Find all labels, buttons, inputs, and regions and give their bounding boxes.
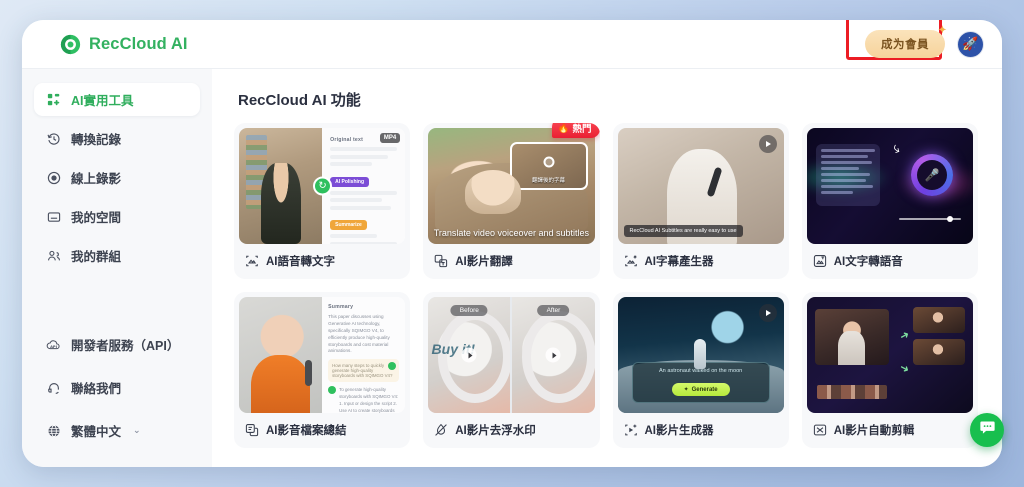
card-remove-watermark[interactable]: Before Buy it! After	[423, 292, 599, 448]
text-bar	[330, 191, 397, 195]
text-line	[821, 191, 853, 194]
chevron-down-icon: ⌄	[133, 425, 141, 436]
sidebar-item-developer-api[interactable]: API 開發者服務（API）	[34, 328, 200, 361]
folder-icon	[46, 209, 61, 224]
card-label: AI影片去浮水印	[423, 413, 599, 448]
play-icon[interactable]	[759, 135, 777, 153]
user-avatar-dot	[388, 362, 396, 370]
card-title: AI影片去浮水印	[455, 422, 536, 438]
become-member-button[interactable]: ✦ 成为會員	[865, 30, 945, 58]
card-title: AI影片生成器	[645, 422, 714, 438]
text-line	[821, 167, 859, 170]
video-generator-icon	[624, 423, 638, 437]
microphone-prop	[305, 360, 312, 386]
chat-bubble-icon	[979, 419, 996, 441]
ai-avatar-dot	[328, 386, 336, 394]
card-label: AI影音檔案總結	[234, 413, 410, 448]
sidebar: AI實用工具 轉換記錄	[22, 69, 212, 467]
card-label: AI影片自動剪輯	[802, 413, 978, 448]
card-media-summary[interactable]: Summary This paper discusses using Gener…	[234, 292, 410, 448]
prompt-text: An astronaut walked on the moon	[639, 368, 763, 374]
feature-card-grid: Original text AI Polishing Summarize ↻	[234, 123, 978, 448]
sidebar-item-my-space[interactable]: 我的空間	[34, 200, 200, 233]
sidebar-label: 我的群組	[71, 246, 121, 265]
cloud-api-icon: API	[46, 337, 61, 352]
sidebar-item-contact-us[interactable]: 聯絡我們	[34, 371, 200, 404]
ai-polishing-chip: AI Polishing	[330, 177, 369, 187]
text-line	[821, 155, 869, 158]
text-bar	[330, 206, 390, 210]
inner-subtitle: 翻譯後的字幕	[512, 176, 586, 184]
text-line	[821, 185, 873, 188]
card-thumbnail: Original text AI Polishing Summarize ↻	[239, 128, 405, 244]
card-video-translate[interactable]: 🔥 熱門 翻譯後的字幕 Translate video voiceover an…	[423, 123, 599, 279]
card-label: AI字幕產生器	[613, 244, 789, 279]
auto-edit-icon	[813, 423, 827, 437]
thumb-caption: Translate video voiceover and subtitles	[428, 228, 594, 238]
text-preview-box	[816, 144, 880, 206]
text-line	[821, 173, 871, 176]
text-bar	[330, 242, 397, 245]
summarize-chip: Summarize	[330, 220, 367, 230]
app-header: RecCloud AI ✦ 成为會員 🚀	[22, 20, 1002, 69]
card-auto-edit[interactable]: ➜ ➜ AI影片自動剪輯	[802, 292, 978, 448]
sidebar-label: 轉換記錄	[71, 129, 121, 148]
after-tag: After	[538, 305, 570, 316]
card-thumbnail: Before Buy it! After	[428, 297, 594, 413]
answer-text: To generate high-quality storyboards wit…	[339, 386, 399, 413]
text-bar	[330, 234, 377, 238]
source-clip	[815, 309, 889, 365]
header-right: ✦ 成为會員 🚀	[865, 30, 984, 58]
text-line	[821, 161, 872, 164]
arrow-up-icon: ➜	[897, 328, 911, 344]
video-translate-icon	[434, 254, 448, 268]
speech-to-text-icon	[245, 254, 259, 268]
mp4-tag: MP4	[380, 133, 400, 143]
output-clip-2	[913, 339, 965, 365]
after-panel: After	[512, 297, 594, 413]
play-icon[interactable]	[462, 348, 477, 363]
sidebar-item-history[interactable]: 轉換記錄	[34, 122, 200, 155]
hot-badge-label: 熱門	[572, 123, 591, 135]
card-text-to-speech[interactable]: ⤷ 🎤 A	[802, 123, 978, 279]
summary-body: This paper discusses using Generative AI…	[328, 314, 399, 355]
card-title: AI影片自動剪輯	[834, 422, 915, 438]
convert-action-icon: ↻	[313, 177, 332, 196]
audio-slider	[899, 218, 961, 220]
card-title: AI文字轉語音	[834, 253, 903, 269]
astronaut-figure	[694, 339, 706, 369]
sparkle-icon: ✦	[684, 386, 689, 393]
body-row: AI實用工具 轉換記錄	[22, 69, 1002, 467]
card-video-generator[interactable]: An astronaut walked on the moon ✦ Genera…	[613, 292, 789, 448]
remove-watermark-icon	[434, 423, 448, 437]
flame-icon: 🔥	[558, 123, 570, 134]
avatar[interactable]: 🚀	[957, 31, 984, 58]
card-title: AI影音檔案總結	[266, 422, 347, 438]
svg-text:API: API	[50, 344, 58, 348]
globe-language-icon	[46, 423, 61, 438]
text-bar	[330, 162, 372, 166]
output-clip-1	[913, 307, 965, 333]
sidebar-item-language[interactable]: 繁體中文 ⌄	[34, 414, 200, 447]
card-title: AI語音轉文字	[266, 253, 335, 269]
flow-arrow-icon: ⤷	[890, 139, 905, 158]
card-label: AI文字轉語音	[802, 244, 978, 279]
text-to-speech-icon	[813, 254, 827, 268]
text-bar	[330, 198, 382, 202]
generate-label: Generate	[692, 387, 718, 393]
card-speech-to-text[interactable]: Original text AI Polishing Summarize ↻	[234, 123, 410, 279]
thumb-panel: Summary This paper discusses using Gener…	[322, 297, 405, 413]
summary-title: Summary	[328, 304, 399, 310]
hot-badge: 🔥 熱門	[552, 123, 600, 138]
arrow-down-icon: ➜	[897, 361, 911, 377]
card-label: AI語音轉文字	[234, 244, 410, 279]
sidebar-label: 繁體中文	[71, 421, 121, 440]
sidebar-item-my-groups[interactable]: 我的群組	[34, 239, 200, 272]
sidebar-label: 線上錄影	[71, 168, 121, 187]
card-title: AI字幕產生器	[645, 253, 714, 269]
sidebar-label: 開發者服務（API）	[71, 335, 179, 354]
translated-preview-frame: 翻譯後的字幕	[510, 142, 588, 190]
card-thumbnail: Summary This paper discusses using Gener…	[239, 297, 405, 413]
headset-support-icon	[46, 380, 61, 395]
play-icon[interactable]	[759, 304, 777, 322]
voice-ring: 🎤	[911, 154, 953, 196]
summary-icon	[245, 423, 259, 437]
timeline-strip	[817, 385, 887, 399]
generate-button[interactable]: ✦ Generate	[672, 383, 730, 396]
thumb-panel: Original text AI Polishing Summarize ↻	[322, 128, 405, 244]
become-member-label: 成为會員	[881, 39, 929, 51]
answer-row: To generate high-quality storyboards wit…	[328, 386, 399, 413]
preview-dot-icon	[543, 157, 554, 168]
text-bar	[330, 147, 397, 151]
subtitle-generator-icon	[624, 254, 638, 268]
sidebar-item-online-record[interactable]: 線上錄影	[34, 161, 200, 194]
sidebar-item-ai-tools[interactable]: AI實用工具	[34, 83, 200, 116]
question-bubble: How many steps to quickly generate high-…	[328, 359, 399, 382]
record-circle-icon	[46, 170, 61, 185]
reccloud-logo-icon	[60, 34, 81, 55]
sidebar-label: 聯絡我們	[71, 378, 121, 397]
sidebar-bottom: API 開發者服務（API） 聯絡我們	[34, 328, 200, 457]
sidebar-spacer	[34, 278, 200, 328]
brand-name: RecCloud AI	[89, 35, 188, 54]
card-thumbnail: An astronaut walked on the moon ✦ Genera…	[618, 297, 784, 413]
chat-widget-button[interactable]	[970, 413, 1004, 447]
sidebar-label: AI實用工具	[71, 90, 134, 109]
before-tag: Before	[451, 305, 488, 316]
text-line	[821, 149, 875, 152]
thumb-photo	[239, 128, 322, 244]
app-window: RecCloud AI ✦ 成为會員 🚀	[22, 20, 1002, 467]
subtitle-caption: RecCloud AI Subtitles are really easy to…	[624, 225, 743, 237]
rocket-avatar-icon: 🚀	[962, 36, 978, 52]
card-thumbnail: RecCloud AI Subtitles are really easy to…	[618, 128, 784, 244]
question-text: How many steps to quickly generate high-…	[332, 363, 392, 378]
card-thumbnail: 翻譯後的字幕 Translate video voiceover and sub…	[428, 128, 594, 244]
history-clock-icon	[46, 131, 61, 146]
card-thumbnail: ⤷ 🎤	[807, 128, 973, 244]
play-icon[interactable]	[546, 348, 561, 363]
card-title: AI影片翻譯	[455, 253, 513, 269]
thumb-photo	[239, 297, 322, 413]
card-label: AI影片翻譯	[423, 244, 599, 279]
text-line	[821, 179, 866, 182]
card-thumbnail: ➜ ➜	[807, 297, 973, 413]
text-bar	[330, 155, 388, 159]
card-label: AI影片生成器	[613, 413, 789, 448]
sidebar-label: 我的空間	[71, 207, 121, 226]
sparkle-icon: ✦	[938, 26, 947, 36]
grid-apps-icon	[46, 92, 61, 107]
before-panel: Before Buy it!	[428, 297, 510, 413]
card-subtitle-generator[interactable]: RecCloud AI Subtitles are really easy to…	[613, 123, 789, 279]
page-title: RecCloud AI 功能	[238, 89, 978, 110]
microphone-icon: 🎤	[925, 168, 940, 182]
brand[interactable]: RecCloud AI	[60, 34, 188, 55]
main-content: RecCloud AI 功能 Original text AI Polishin…	[212, 69, 1002, 467]
users-group-icon	[46, 248, 61, 263]
